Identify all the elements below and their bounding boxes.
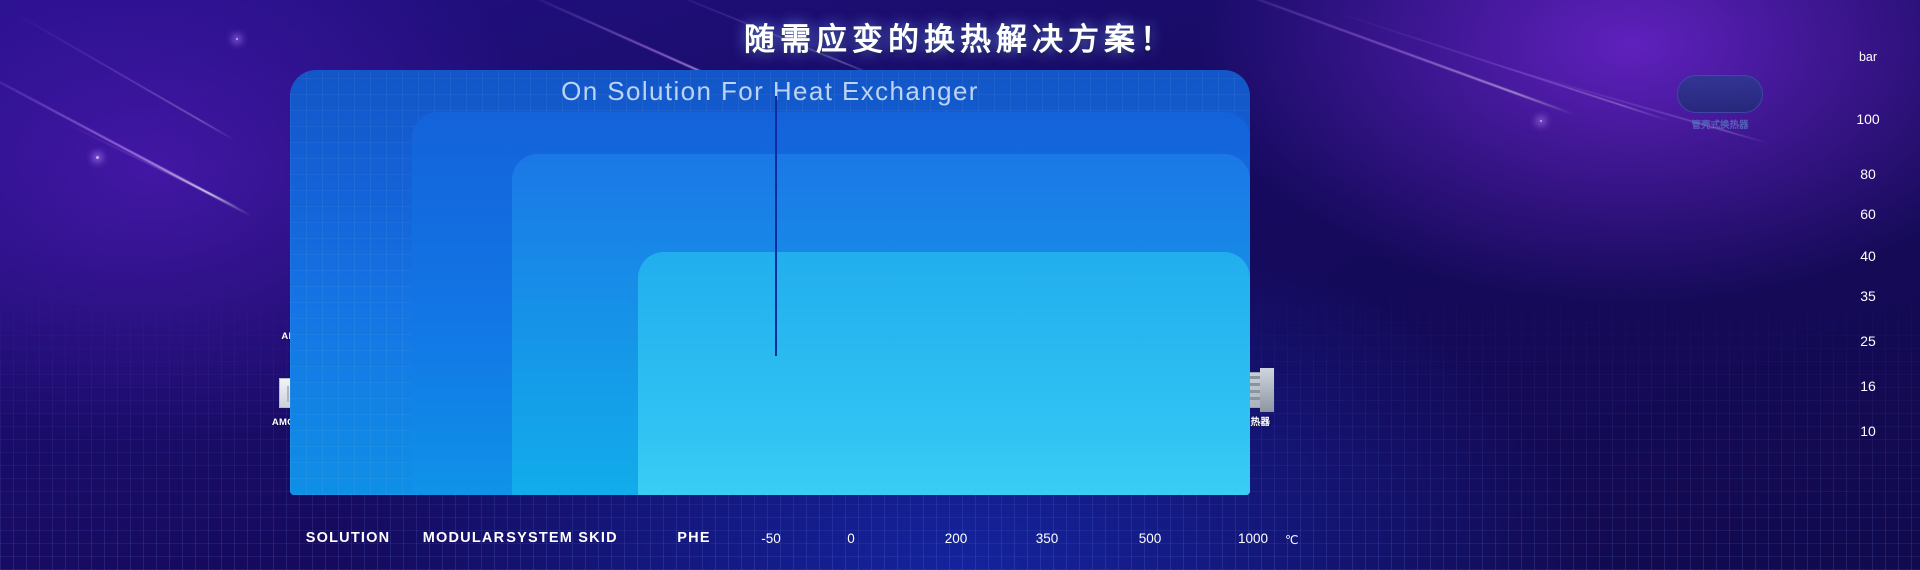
- pressure-tick: 60: [1860, 206, 1876, 222]
- pressure-tick: 40: [1860, 248, 1876, 264]
- chart-center-divider: [775, 96, 777, 356]
- temperature-axis-unit: ℃: [1285, 533, 1298, 547]
- solution-chart-panel: On Solution For Heat Exchanger: [290, 70, 1250, 495]
- bottom-axis: ℃ SOLUTIONMODULARSYSTEM SKIDPHE-50020035…: [0, 512, 1920, 570]
- tier-phe: [638, 252, 1250, 495]
- pressure-tick: 80: [1860, 166, 1876, 182]
- shell-tube-label: 管壳式换热器: [1660, 117, 1780, 131]
- pressure-axis: bar 10080604035251610: [1800, 50, 1920, 450]
- axis-group-system-skid: SYSTEM SKID: [506, 530, 618, 546]
- glow-dot-decoration: [96, 156, 99, 159]
- pressure-tick: 10: [1860, 423, 1876, 439]
- pressure-tick: 100: [1856, 111, 1879, 127]
- axis-group-phe: PHE: [677, 530, 710, 546]
- axis-group-solution: SOLUTION: [306, 530, 391, 546]
- temperature-tick: 1000: [1238, 531, 1268, 546]
- temperature-tick: 200: [945, 531, 968, 546]
- shell-tube-ghost-item: 管壳式换热器: [1660, 75, 1780, 131]
- temperature-tick: -50: [761, 531, 781, 546]
- axis-group-modular: MODULAR: [423, 530, 506, 546]
- page-title: 随需应变的换热解决方案！: [0, 14, 1920, 59]
- temperature-tick: 500: [1139, 531, 1162, 546]
- page-subtitle: On Solution For Heat Exchanger: [290, 76, 1250, 107]
- light-streak-decoration: [60, 120, 240, 209]
- temperature-tick: 350: [1036, 531, 1059, 546]
- shell-tube-icon: [1677, 75, 1763, 113]
- temperature-tick: 0: [847, 531, 855, 546]
- light-streak-decoration: [0, 60, 252, 217]
- pressure-tick: 25: [1860, 333, 1876, 349]
- pressure-tick: 16: [1860, 378, 1876, 394]
- pressure-tick: 35: [1860, 288, 1876, 304]
- infographic-canvas: 随需应变的换热解决方案！ 管壳式换热器 On Solution For Heat…: [0, 0, 1920, 570]
- glow-dot-decoration: [1540, 120, 1542, 122]
